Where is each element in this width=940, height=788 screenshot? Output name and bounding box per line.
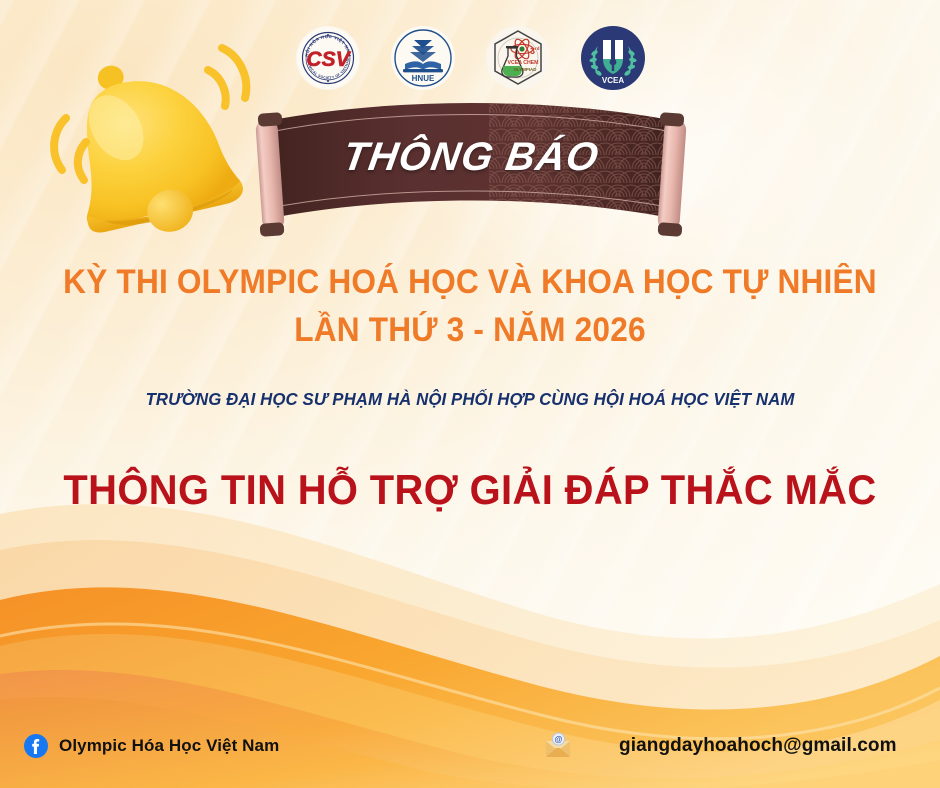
- poster-canvas: HỘI HÓA HỌC VIỆT NAM CHEMICAL SOCIETY OF…: [0, 0, 940, 788]
- facebook-page-name: Olympic Hóa Học Việt Nam: [59, 736, 279, 756]
- vcea-chem-olympiad-logo: 3 rd VCEA CHEM OLYMPIAD: [486, 26, 550, 90]
- facebook-icon[interactable]: [24, 734, 48, 758]
- footer-contact-bar: Olympic Hóa Học Việt Nam @ giangdayhoaho…: [0, 708, 940, 788]
- facebook-contact[interactable]: Olympic Hóa Học Việt Nam: [24, 734, 279, 758]
- organizer-subtitle: TRƯỜNG ĐẠI HỌC SƯ PHẠM HÀ NỘI PHỐI HỢP C…: [19, 389, 921, 410]
- svg-text:@: @: [555, 735, 563, 744]
- section-headline: THÔNG TIN HỖ TRỢ GIẢI ĐÁP THẮC MẮC: [24, 466, 917, 514]
- svg-text:OLYMPIAD: OLYMPIAD: [513, 67, 536, 72]
- vcea-chem-olympiad-logo-icon: 3 rd VCEA CHEM OLYMPIAD: [486, 26, 550, 90]
- event-title-line2: LẦN THỨ 3 - NĂM 2026: [33, 306, 907, 354]
- announcement-banner: THÔNG BÁO: [241, 99, 701, 241]
- event-title-line1: KỲ THI OLYMPIC HOÁ HỌC VÀ KHOA HỌC TỰ NH…: [33, 258, 907, 306]
- email-address: giangdayhoahoch@gmail.com: [619, 735, 897, 757]
- logo-row: HỘI HÓA HỌC VIỆT NAM CHEMICAL SOCIETY OF…: [0, 26, 940, 90]
- event-title: KỲ THI OLYMPIC HOÁ HỌC VÀ KHOA HỌC TỰ NH…: [0, 258, 940, 354]
- svg-text:HNUE: HNUE: [411, 74, 434, 83]
- envelope-at-icon[interactable]: @: [543, 732, 573, 760]
- banner-title: THÔNG BÁO: [237, 135, 704, 180]
- vcea-logo-icon: VCEA: [581, 26, 645, 90]
- email-contact[interactable]: @ giangdayhoahoch@gmail.com: [543, 732, 897, 760]
- svg-text:rd: rd: [535, 46, 540, 51]
- svg-text:VCEA CHEM: VCEA CHEM: [507, 60, 538, 66]
- vcea-logo: VCEA: [581, 26, 645, 90]
- csv-logo: HỘI HÓA HỌC VIỆT NAM CHEMICAL SOCIETY OF…: [296, 26, 360, 90]
- svg-text:CSV: CSV: [306, 48, 351, 71]
- hnue-logo: HNUE: [391, 26, 455, 90]
- csv-logo-icon: HỘI HÓA HỌC VIỆT NAM CHEMICAL SOCIETY OF…: [296, 26, 360, 90]
- hnue-logo-icon: HNUE: [391, 26, 455, 90]
- svg-text:VCEA: VCEA: [601, 76, 623, 85]
